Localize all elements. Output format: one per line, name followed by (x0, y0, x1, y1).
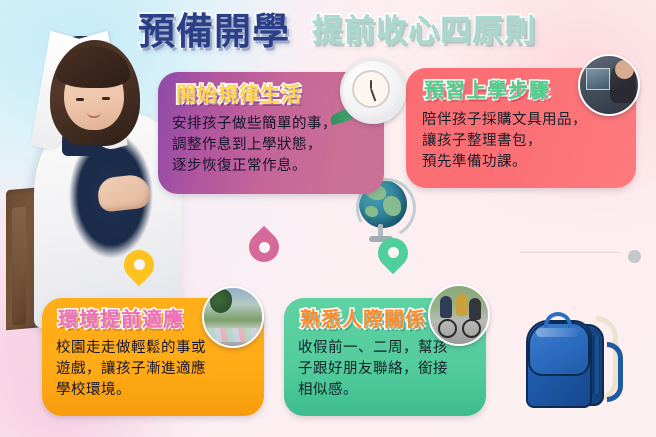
backpack-strap-blue (607, 342, 623, 402)
rider-2 (456, 294, 468, 316)
wheel-2 (462, 319, 481, 338)
clock-face (352, 70, 390, 108)
clasped-hands (96, 173, 151, 212)
pin-green (378, 238, 408, 276)
school-path-photo (202, 286, 264, 348)
decor-hairline (520, 252, 620, 253)
doctor-portrait-photo (6, 28, 182, 328)
infographic-poster: 預備開學 提前收心四原則 開始規律生活 安排孩子做些簡單的事， 調整作息到上學狀… (0, 0, 656, 437)
card-social-relationships[interactable]: 熟悉人際關係 收假前一、二周，幫孩 子跟好朋友聯絡，銜接 相似感。 (284, 298, 486, 416)
card-preview-school-steps[interactable]: 預習上學步驟 陪伴孩子採購文具用品， 讓孩子整理書包， 預先準備功課。 (406, 68, 636, 188)
screen (586, 68, 610, 90)
card2-body: 陪伴孩子採購文具用品， 讓孩子整理書包， 預先準備功課。 (422, 110, 630, 173)
pin-yellow (124, 250, 154, 288)
eye-left (76, 98, 84, 101)
pin-green-hole (388, 247, 399, 258)
backpack-highlight (536, 328, 578, 337)
child-at-desk-photo (578, 54, 640, 116)
backpack-illustration (522, 306, 626, 418)
poster-title-group: 預備開學 提前收心四原則 (138, 2, 638, 60)
backpack-handle (544, 312, 572, 328)
clock-photo (340, 58, 406, 124)
pin-yellow-hole (134, 259, 145, 270)
child-head (615, 60, 634, 79)
card2-title: 預習上學步驟 (424, 80, 550, 100)
clock-hand-minute (370, 89, 376, 102)
crosswalk (204, 328, 262, 342)
wheel-1 (438, 319, 457, 338)
card1-title: 開始規律生活 (176, 84, 302, 104)
card4-body: 收假前一、二周，幫孩 子跟好朋友聯絡，銜接 相似感。 (298, 338, 480, 401)
child-at-desk-image (580, 56, 638, 114)
card-environment-adaptation[interactable]: 環境提前適應 校園走走做輕鬆的事或 遊戲，讓孩子漸進適應 學校環境。 (42, 298, 264, 416)
card3-title: 環境提前適應 (58, 309, 184, 329)
card3-body: 校園走走做輕鬆的事或 遊戲，讓孩子漸進適應 學校環境。 (56, 338, 256, 401)
page-title: 預備開學 (138, 13, 290, 50)
school-path-image (204, 288, 262, 346)
kids-bicycles-image (430, 286, 488, 344)
tree (210, 289, 232, 313)
pin-pink (249, 232, 279, 270)
eye-right (102, 97, 110, 100)
rider-3 (469, 298, 481, 320)
decor-dot (628, 250, 641, 263)
card4-title: 熟悉人際關係 (300, 309, 426, 329)
page-subtitle: 提前收心四原則 (312, 16, 536, 47)
kids-bicycles-photo (428, 284, 490, 346)
pin-pink-hole (259, 242, 270, 253)
rider-1 (440, 296, 452, 318)
card1-body: 安排孩子做些簡單的事， 調整作息到上學狀態， 逐步恢復正常作息。 (172, 114, 376, 177)
